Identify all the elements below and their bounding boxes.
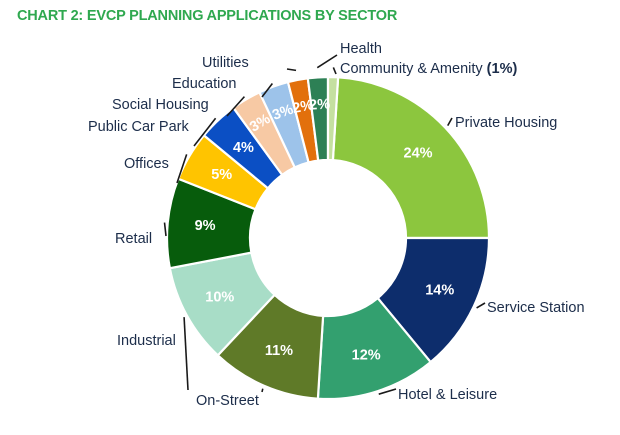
leader-line: [333, 67, 336, 74]
leader-line: [287, 69, 296, 70]
leader-line: [477, 303, 485, 308]
label-retail: Retail: [115, 231, 152, 247]
donut-chart: 24%14%12%11%10%9%5%4%3%3%2%2%: [0, 0, 620, 435]
leader-line: [317, 55, 337, 68]
leader-line: [184, 317, 188, 390]
label-utilities: Utilities: [202, 55, 249, 71]
label-on-street: On-Street: [196, 393, 259, 409]
label-hotel-leisure: Hotel & Leisure: [398, 387, 497, 403]
label-offices: Offices: [124, 156, 169, 172]
label-industrial: Industrial: [117, 333, 176, 349]
label-community-amenity-name: Community & Amenity: [340, 61, 487, 77]
leader-line: [262, 389, 263, 392]
label-education: Education: [172, 76, 237, 92]
slice-value-label: 12%: [352, 347, 381, 363]
label-community-amenity: Community & Amenity (1%): [340, 61, 517, 77]
slice-value-label: 5%: [211, 167, 232, 183]
slice-value-label: 10%: [205, 289, 234, 305]
slice-value-label: 24%: [404, 145, 433, 161]
donut-slices: [167, 77, 489, 399]
label-private-housing: Private Housing: [455, 115, 557, 131]
label-health: Health: [340, 41, 382, 57]
leader-line: [448, 118, 452, 126]
slice-value-label: 11%: [265, 343, 293, 359]
label-service-station: Service Station: [487, 300, 585, 316]
slice-value-label: 4%: [233, 140, 254, 156]
slice-value-label: 2%: [309, 96, 331, 113]
label-public-car-park: Public Car Park: [88, 119, 189, 135]
chart-container: CHART 2: EVCP PLANNING APPLICATIONS BY S…: [0, 0, 620, 435]
slice-value-label: 14%: [425, 282, 454, 298]
slice-value-label: 9%: [195, 218, 216, 234]
label-community-amenity-percent: (1%): [487, 61, 518, 77]
label-social-housing: Social Housing: [112, 97, 209, 113]
leader-line: [165, 223, 166, 236]
